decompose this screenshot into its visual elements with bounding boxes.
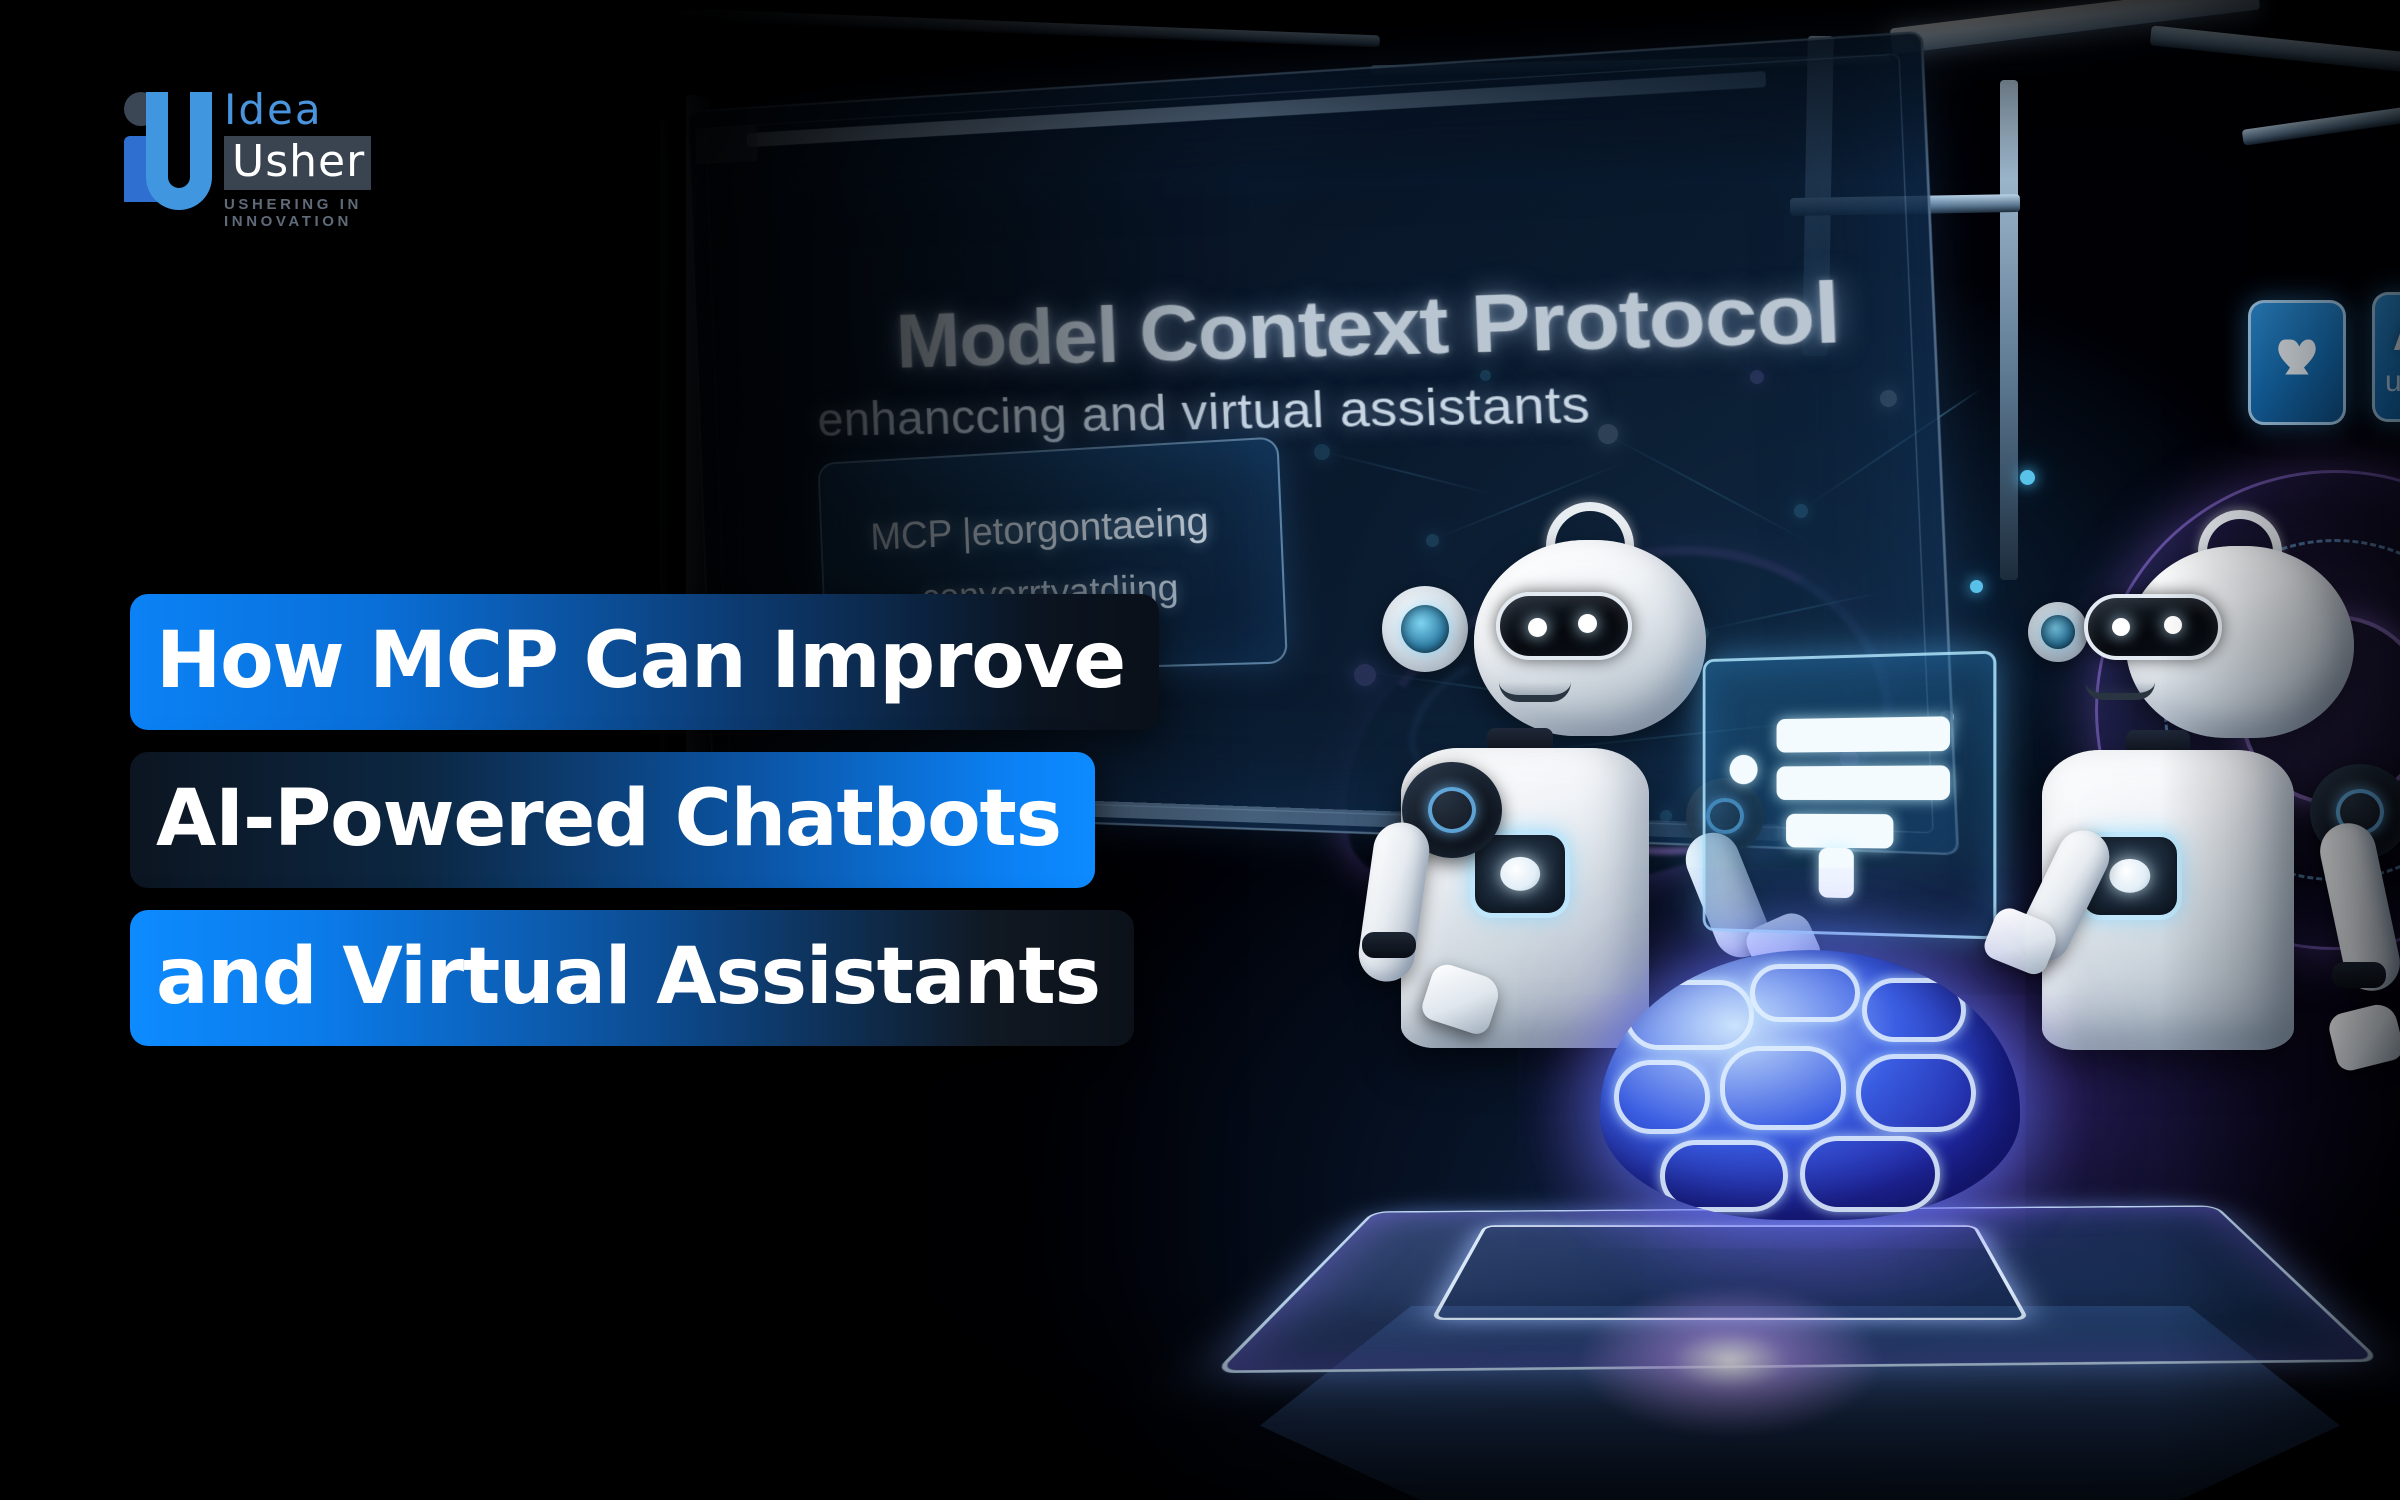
chat-bubble-panel[interactable]	[1703, 650, 1997, 939]
headline-line-2: AI-Powered Chatbots	[130, 752, 1095, 888]
robot-right-eye-2	[2164, 616, 2182, 634]
robot-left-ear-left	[1382, 586, 1468, 672]
logo-name-line2: Usher	[232, 138, 365, 186]
robot-left-visor	[1496, 592, 1632, 660]
logo-mark-iu-icon	[118, 92, 214, 210]
robot-right	[1980, 510, 2400, 1130]
robot-right-hand	[2326, 1001, 2400, 1074]
heart-shield-icon	[2269, 332, 2325, 393]
robot-right-ear-left	[2028, 602, 2088, 662]
chat-avatar-dot	[1730, 755, 1758, 785]
tile-icon-only[interactable]	[2248, 300, 2346, 425]
tile-alert-label: Aler	[2393, 317, 2400, 360]
logo-name-line1: Idea	[224, 88, 378, 132]
headline-line-3: and Virtual Assistants	[130, 910, 1134, 1046]
banner-root: Model Context Protocol enhanccing and vi…	[0, 0, 2400, 1500]
logo-wordmark: Idea Usher USHERING IN INNOVATION	[224, 88, 378, 230]
robot-left-eye-1	[1528, 618, 1547, 637]
robot-right-visor	[2084, 594, 2222, 660]
brain-platform	[1220, 1110, 2400, 1500]
brand-logo[interactable]: Idea Usher USHERING IN INNOVATION	[118, 86, 378, 226]
holographic-brain	[1600, 950, 2020, 1220]
chat-line-3	[1786, 814, 1893, 849]
chat-stem	[1819, 848, 1854, 898]
headline-block: How MCP Can Improve AI-Powered Chatbots …	[130, 594, 1159, 1046]
robot-right-elbow	[2332, 962, 2386, 988]
robot-left-mouth	[1499, 682, 1571, 702]
headline-line-1: How MCP Can Improve	[130, 594, 1159, 730]
logo-name-line2-backdrop: Usher	[224, 136, 371, 190]
logo-tagline: USHERING IN INNOVATION	[224, 196, 378, 230]
logo-letter-u	[146, 92, 212, 210]
robot-right-mouth	[2085, 682, 2155, 700]
tile-alert-sublabel: upd	[2385, 365, 2400, 399]
tile-alert[interactable]: Aler upd	[2372, 292, 2400, 422]
robot-left-elbow	[1362, 932, 1416, 958]
chat-line-2	[1777, 765, 1950, 800]
robot-left-eye-2	[1578, 614, 1597, 633]
platform-light-burst	[1580, 1286, 1880, 1436]
robot-right-eye-1	[2112, 618, 2130, 636]
chat-line-1	[1777, 716, 1950, 752]
